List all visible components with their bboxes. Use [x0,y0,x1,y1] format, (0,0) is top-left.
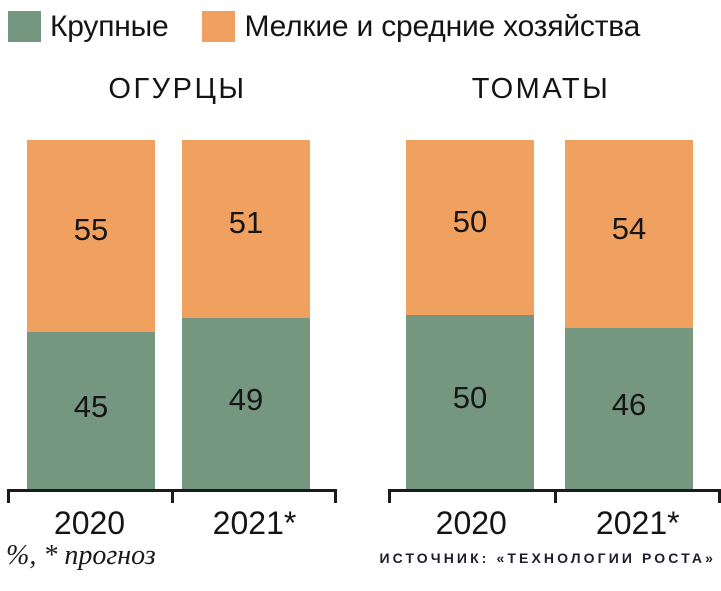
axis-tick [554,489,557,503]
bar-segment-large[interactable]: 45 [27,332,155,489]
panel-title-cucumbers: ОГУРЦЫ [0,72,355,106]
bar-value-label: 50 [453,382,487,413]
x-tick-label: 2020 [7,504,172,544]
bar-segment-large[interactable]: 46 [565,328,693,489]
x-axis-cucumbers [7,489,337,503]
bar-value-label: 45 [74,391,108,422]
stacked-bar-cucumbers-2020[interactable]: 55 45 [27,140,155,489]
bar-value-label: 46 [612,389,646,420]
panel-title-tomatoes: ТОМАТЫ [361,72,721,106]
axis-tick [334,489,337,503]
x-axis-tomatoes [388,489,721,503]
plot-area-tomatoes: 50 50 54 46 [361,140,721,489]
bar-value-label: 51 [229,207,263,238]
bar-value-label: 55 [74,214,108,245]
stacked-bar-tomatoes-2021[interactable]: 54 46 [565,140,693,489]
bar-segment-large[interactable]: 49 [182,318,310,489]
bar-segment-small-medium[interactable]: 50 [406,140,534,315]
chart-panel-tomatoes: ТОМАТЫ 50 50 54 46 2020 2021* [361,60,721,530]
bar-value-label: 50 [453,206,487,237]
x-axis-tick-labels-cucumbers: 2020 2021* [7,504,337,544]
axis-tick [388,489,391,503]
bar-value-label: 54 [612,213,646,244]
bar-segment-small-medium[interactable]: 51 [182,140,310,318]
chart-legend: Крупные Мелкие и средние хозяйства [0,0,721,52]
axis-tick [171,489,174,503]
bar-value-label: 49 [229,384,263,415]
x-tick-label: 2020 [388,504,555,544]
x-tick-label: 2021* [555,504,721,544]
x-tick-label: 2021* [172,504,337,544]
x-axis-tick-labels-tomatoes: 2020 2021* [388,504,721,544]
legend-label-large-farms: Крупные [50,11,168,42]
legend-item-small-medium-farms: Мелкие и средние хозяйства [202,11,640,42]
axis-tick [7,489,10,503]
bar-segment-large[interactable]: 50 [406,315,534,490]
legend-label-small-medium-farms: Мелкие и средние хозяйства [244,11,640,42]
legend-item-large-farms: Крупные [8,11,168,42]
legend-swatch-icon-large-farms [8,11,41,42]
stacked-bar-cucumbers-2021[interactable]: 51 49 [182,140,310,489]
legend-swatch-icon-small-medium-farms [202,11,235,42]
bar-segment-small-medium[interactable]: 55 [27,140,155,332]
footnote-units-forecast: %, * прогноз [6,540,156,572]
plot-area-cucumbers: 55 45 51 49 [0,140,355,489]
stacked-bar-tomatoes-2020[interactable]: 50 50 [406,140,534,489]
bar-segment-small-medium[interactable]: 54 [565,140,693,328]
chart-panel-cucumbers: ОГУРЦЫ 55 45 51 49 2020 2021* [0,60,355,530]
source-attribution: ИСТОЧНИК: «ТЕХНОЛОГИИ РОСТА» [379,549,716,567]
